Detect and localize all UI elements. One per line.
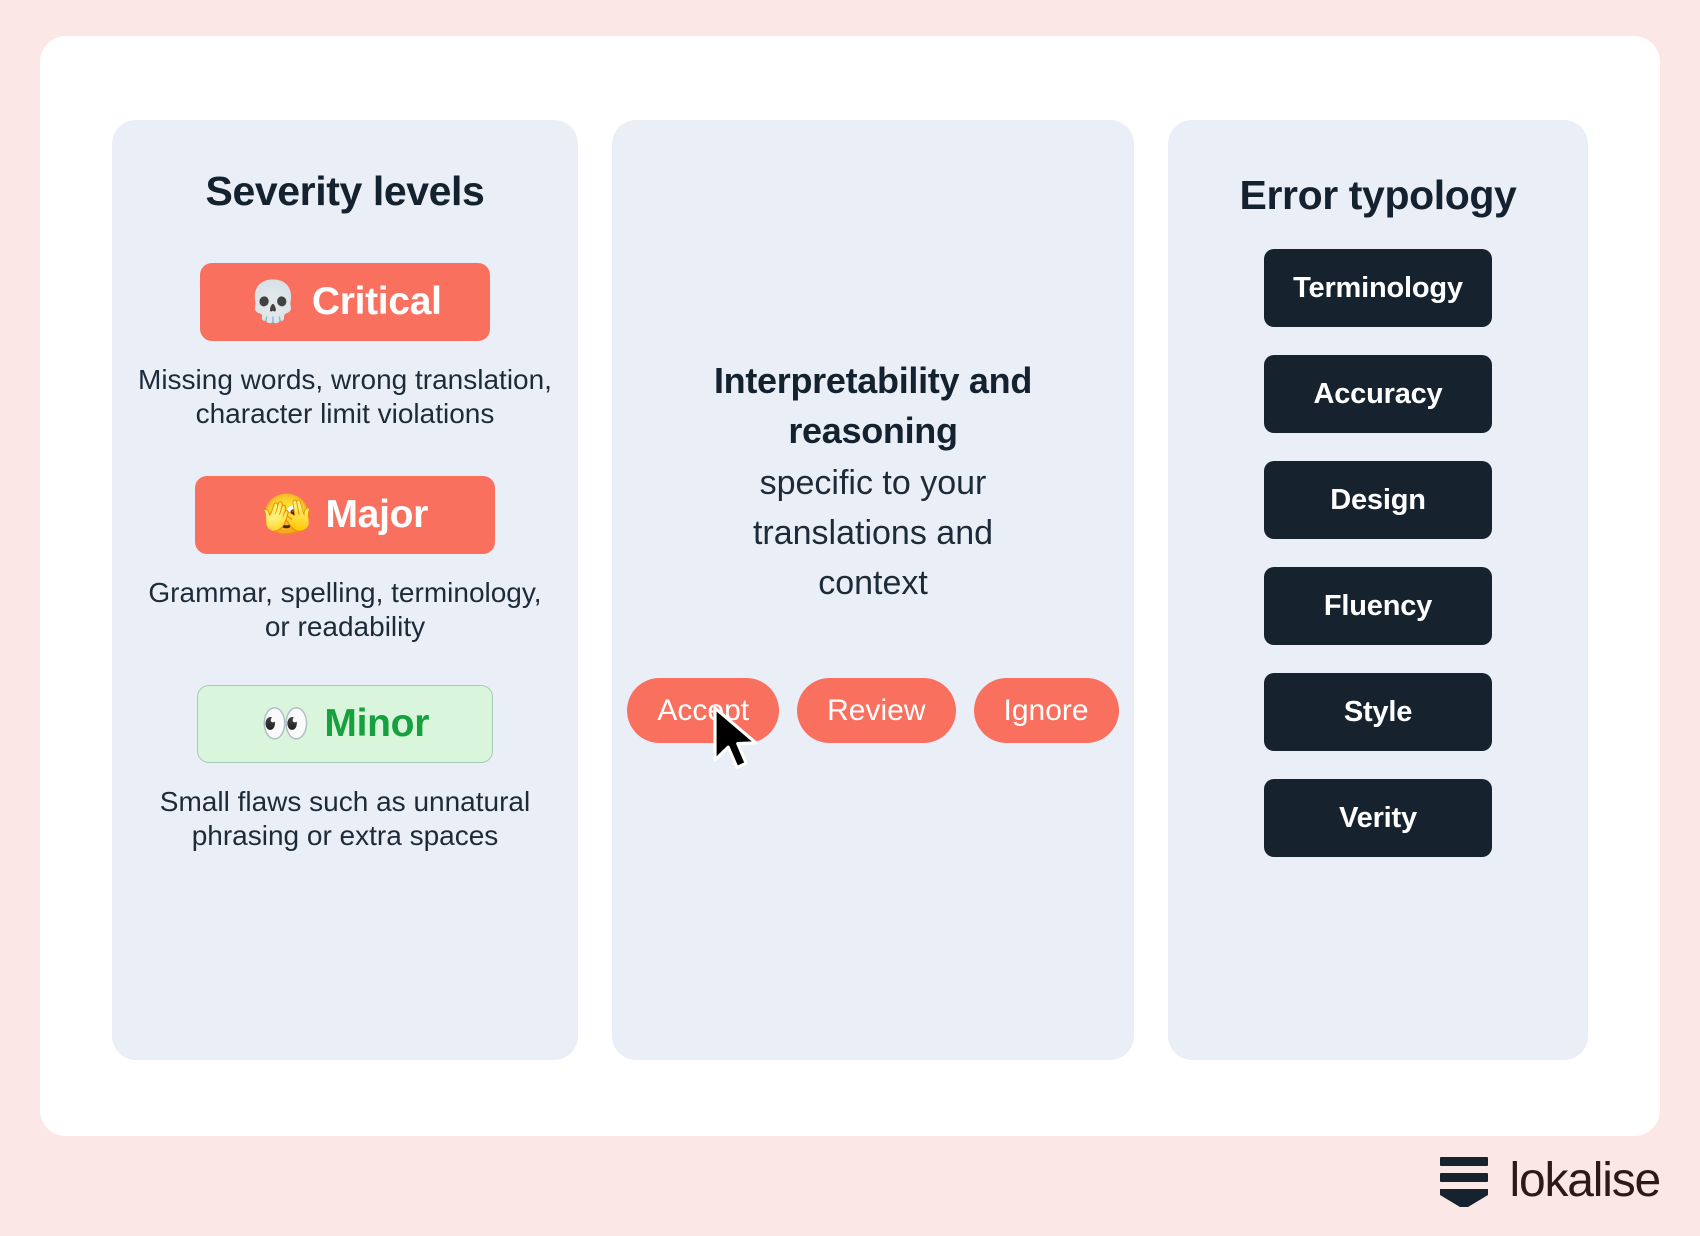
skull-emoji: 💀 <box>248 282 298 322</box>
error-typology-card: Error typology Terminology Accuracy Desi… <box>1168 120 1588 1060</box>
interpretability-headline: Interpretability and reasoning <box>683 356 1063 455</box>
typology-chip-style[interactable]: Style <box>1264 673 1492 751</box>
typology-chip-terminology[interactable]: Terminology <box>1264 249 1492 327</box>
severity-description-minor: Small flaws such as unnatural phrasing o… <box>160 785 530 852</box>
interpretability-card: Interpretability and reasoning specific … <box>612 120 1134 1060</box>
severity-levels-card: Severity levels 💀 Critical Missing words… <box>112 120 578 1060</box>
typology-chip-accuracy[interactable]: Accuracy <box>1264 355 1492 433</box>
action-button-row: Accept Review Ignore <box>627 678 1118 743</box>
typology-chip-fluency[interactable]: Fluency <box>1264 567 1492 645</box>
severity-level-critical: 💀 Critical Missing words, wrong translat… <box>136 215 554 430</box>
severity-level-major: 🫣 Major Grammar, spelling, terminology, … <box>136 430 554 643</box>
severity-badge-label: Major <box>326 493 429 537</box>
ignore-button[interactable]: Ignore <box>974 678 1119 743</box>
main-panel: Severity levels 💀 Critical Missing words… <box>40 36 1660 1136</box>
severity-badge-label: Minor <box>324 702 429 746</box>
review-button[interactable]: Review <box>797 678 955 743</box>
lokalise-logo: lokalise <box>1438 1154 1660 1208</box>
accept-button[interactable]: Accept <box>627 678 779 743</box>
interpretability-subline: specific to your translations and contex… <box>708 459 1038 608</box>
severity-badge-major[interactable]: 🫣 Major <box>195 476 495 554</box>
severity-description-major: Grammar, spelling, terminology, or reada… <box>148 576 541 643</box>
columns-layout: Severity levels 💀 Critical Missing words… <box>40 36 1660 1136</box>
severity-badge-minor[interactable]: 👀 Minor <box>197 685 493 763</box>
typology-chip-design[interactable]: Design <box>1264 461 1492 539</box>
severity-level-minor: 👀 Minor Small flaws such as unnatural ph… <box>136 643 554 852</box>
eyes-emoji: 👀 <box>261 704 311 744</box>
typology-chip-verity[interactable]: Verity <box>1264 779 1492 857</box>
severity-description-critical: Missing words, wrong translation, charac… <box>138 363 552 430</box>
severity-badge-critical[interactable]: 💀 Critical <box>200 263 490 341</box>
severity-levels-title: Severity levels <box>136 168 554 215</box>
error-typology-title: Error typology <box>1240 172 1517 219</box>
severity-badge-label: Critical <box>312 280 442 324</box>
lokalise-chevron-bars-icon <box>1438 1154 1496 1208</box>
face-with-peeking-eye-emoji: 🫣 <box>262 495 312 535</box>
lokalise-wordmark: lokalise <box>1510 1157 1660 1205</box>
